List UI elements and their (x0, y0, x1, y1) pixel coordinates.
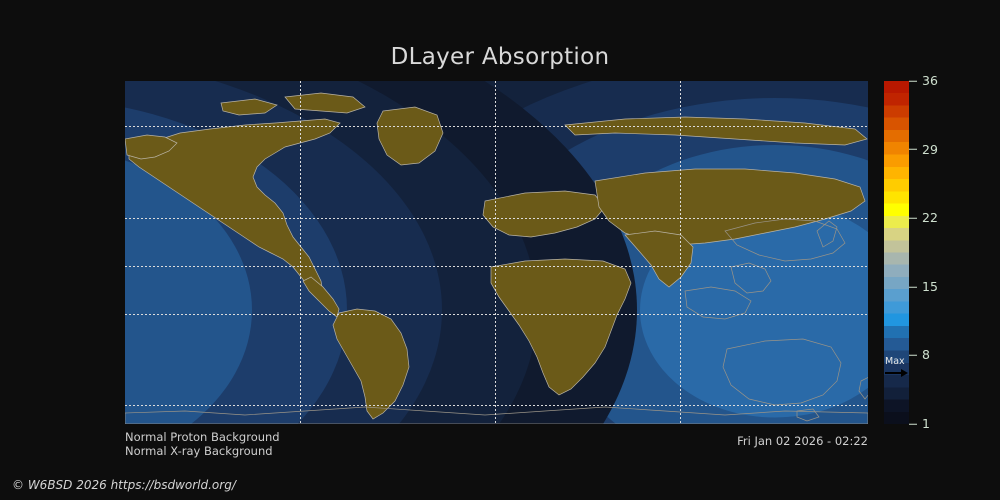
timestamp: Fri Jan 02 2026 - 02:22 (737, 434, 868, 448)
page-title: DLayer Absorption (0, 44, 1000, 70)
xray-status: Normal X-ray Background (125, 444, 273, 458)
world-map[interactable] (125, 81, 868, 424)
max-label: Max (884, 357, 909, 367)
dlayer-absorption-page: DLayer Absorption (0, 0, 1000, 500)
tick-label: 8 (922, 349, 930, 362)
copyright-notice[interactable]: © W6BSD 2026 https://bsdworld.org/ (12, 478, 236, 492)
max-arrow-icon (884, 369, 909, 377)
max-marker: Max (884, 357, 909, 381)
tick-label: 1 (922, 418, 930, 431)
tick-mark (909, 218, 917, 219)
colorbar-tick-1: 1 (909, 418, 930, 431)
tick-mark (909, 81, 917, 82)
tick-mark (909, 149, 917, 150)
colorbar-axis-label: Affected Frequency (MHz) (934, 81, 1000, 424)
coastlines (125, 81, 868, 424)
colorbar-tick-8: 8 (909, 349, 930, 362)
tick-mark (909, 424, 917, 425)
tick-mark (909, 355, 917, 356)
proton-status: Normal Proton Background (125, 430, 280, 444)
tick-mark (909, 286, 917, 287)
